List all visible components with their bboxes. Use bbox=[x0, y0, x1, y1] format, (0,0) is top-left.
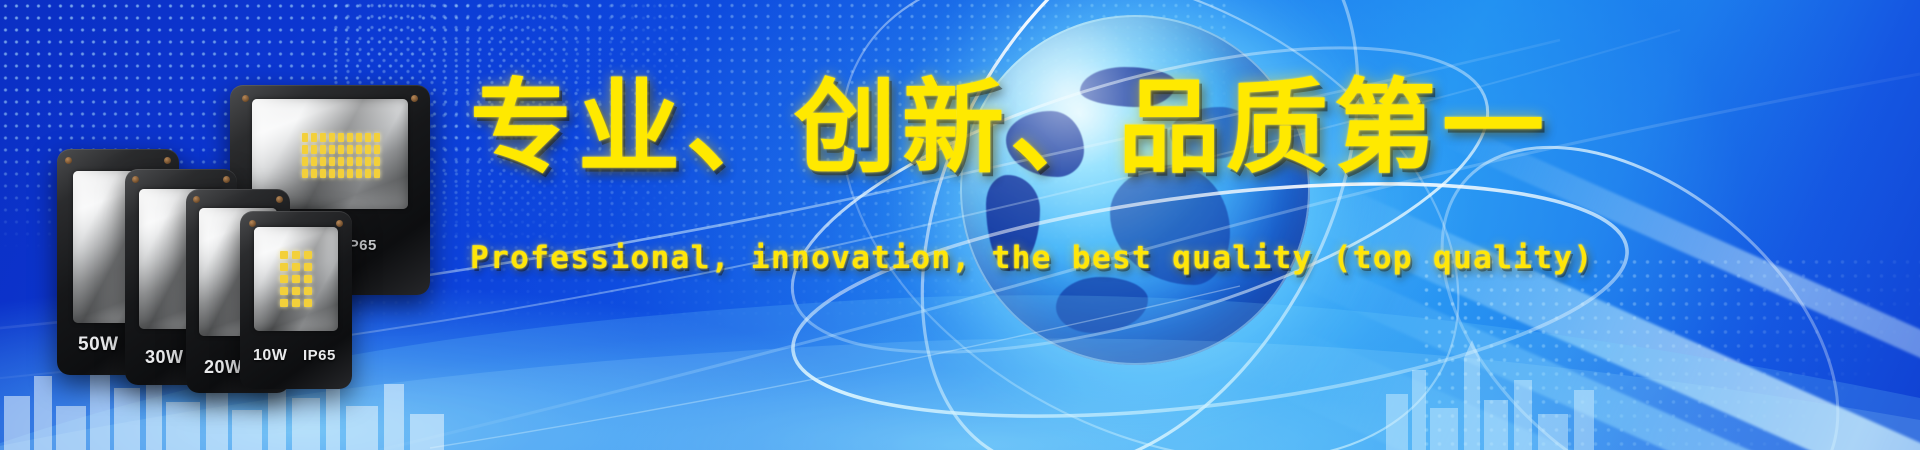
page-title: 专业、创新、品质第一 bbox=[470, 78, 1550, 180]
product-image-group: IP65 50W 30W bbox=[40, 85, 440, 375]
led-chip-array bbox=[280, 251, 312, 307]
mounting-screw bbox=[132, 176, 139, 183]
promo-banner: IP65 50W 30W bbox=[0, 0, 1920, 450]
mounting-screw bbox=[276, 196, 283, 203]
mounting-screw bbox=[223, 176, 230, 183]
product-label-20w: 20W bbox=[204, 357, 243, 378]
city-skyline-icon bbox=[1380, 330, 1620, 450]
mounting-screw bbox=[164, 157, 171, 164]
product-label-10w: 10W bbox=[253, 347, 287, 365]
page-subtitle: Professional, innovation, the best quali… bbox=[470, 243, 1594, 274]
mounting-screw bbox=[193, 196, 200, 203]
mounting-screw bbox=[65, 157, 72, 164]
product-label-30w: 30W bbox=[145, 347, 184, 368]
mounting-screw bbox=[336, 220, 343, 227]
product-label-ip65-small: IP65 bbox=[303, 347, 336, 364]
product-label-50w: 50W bbox=[78, 334, 119, 356]
mounting-screw bbox=[249, 220, 256, 227]
floodlight-unit-10w: 10W IP65 bbox=[240, 211, 352, 389]
mounting-screw bbox=[242, 95, 249, 102]
mounting-screw bbox=[411, 95, 418, 102]
led-chip-array bbox=[302, 133, 380, 178]
